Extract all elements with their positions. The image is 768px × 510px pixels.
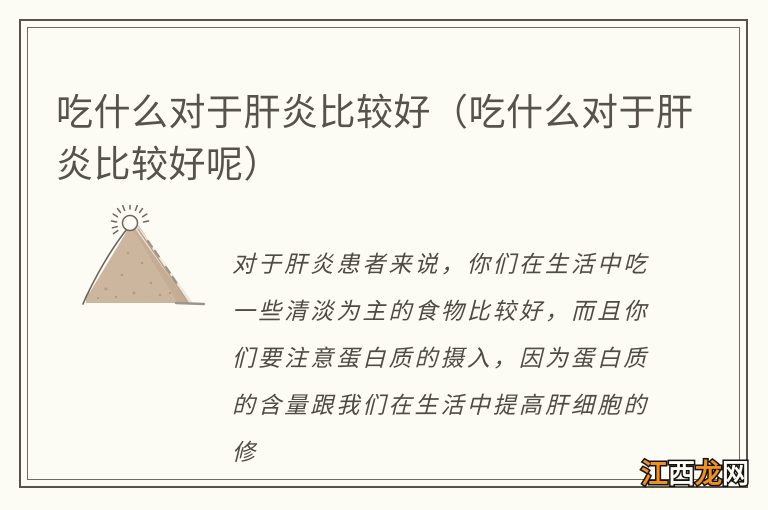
sand-dune-illustration — [56, 205, 206, 315]
watermark-char-3: 龙 — [695, 461, 722, 488]
sun-icon — [112, 205, 149, 234]
page-title: 吃什么对于肝炎比较好（吃什么对于肝炎比较好呢） — [56, 87, 696, 191]
watermark-char-2: 西 — [668, 461, 695, 488]
article-body: 对于肝炎患者来说，你们在生活中吃一些清淡为主的食物比较好，而且你们要注意蛋白质的… — [56, 205, 696, 455]
watermark-char-4: 网 — [722, 461, 749, 488]
site-watermark: 江 西 龙 网 — [641, 457, 749, 491]
article-paragraph: 对于肝炎患者来说，你们在生活中吃一些清淡为主的食物比较好，而且你们要注意蛋白质的… — [232, 242, 648, 477]
article-page: 吃什么对于肝炎比较好（吃什么对于肝炎比较好呢） — [0, 0, 768, 510]
watermark-char-1: 江 — [641, 461, 668, 488]
